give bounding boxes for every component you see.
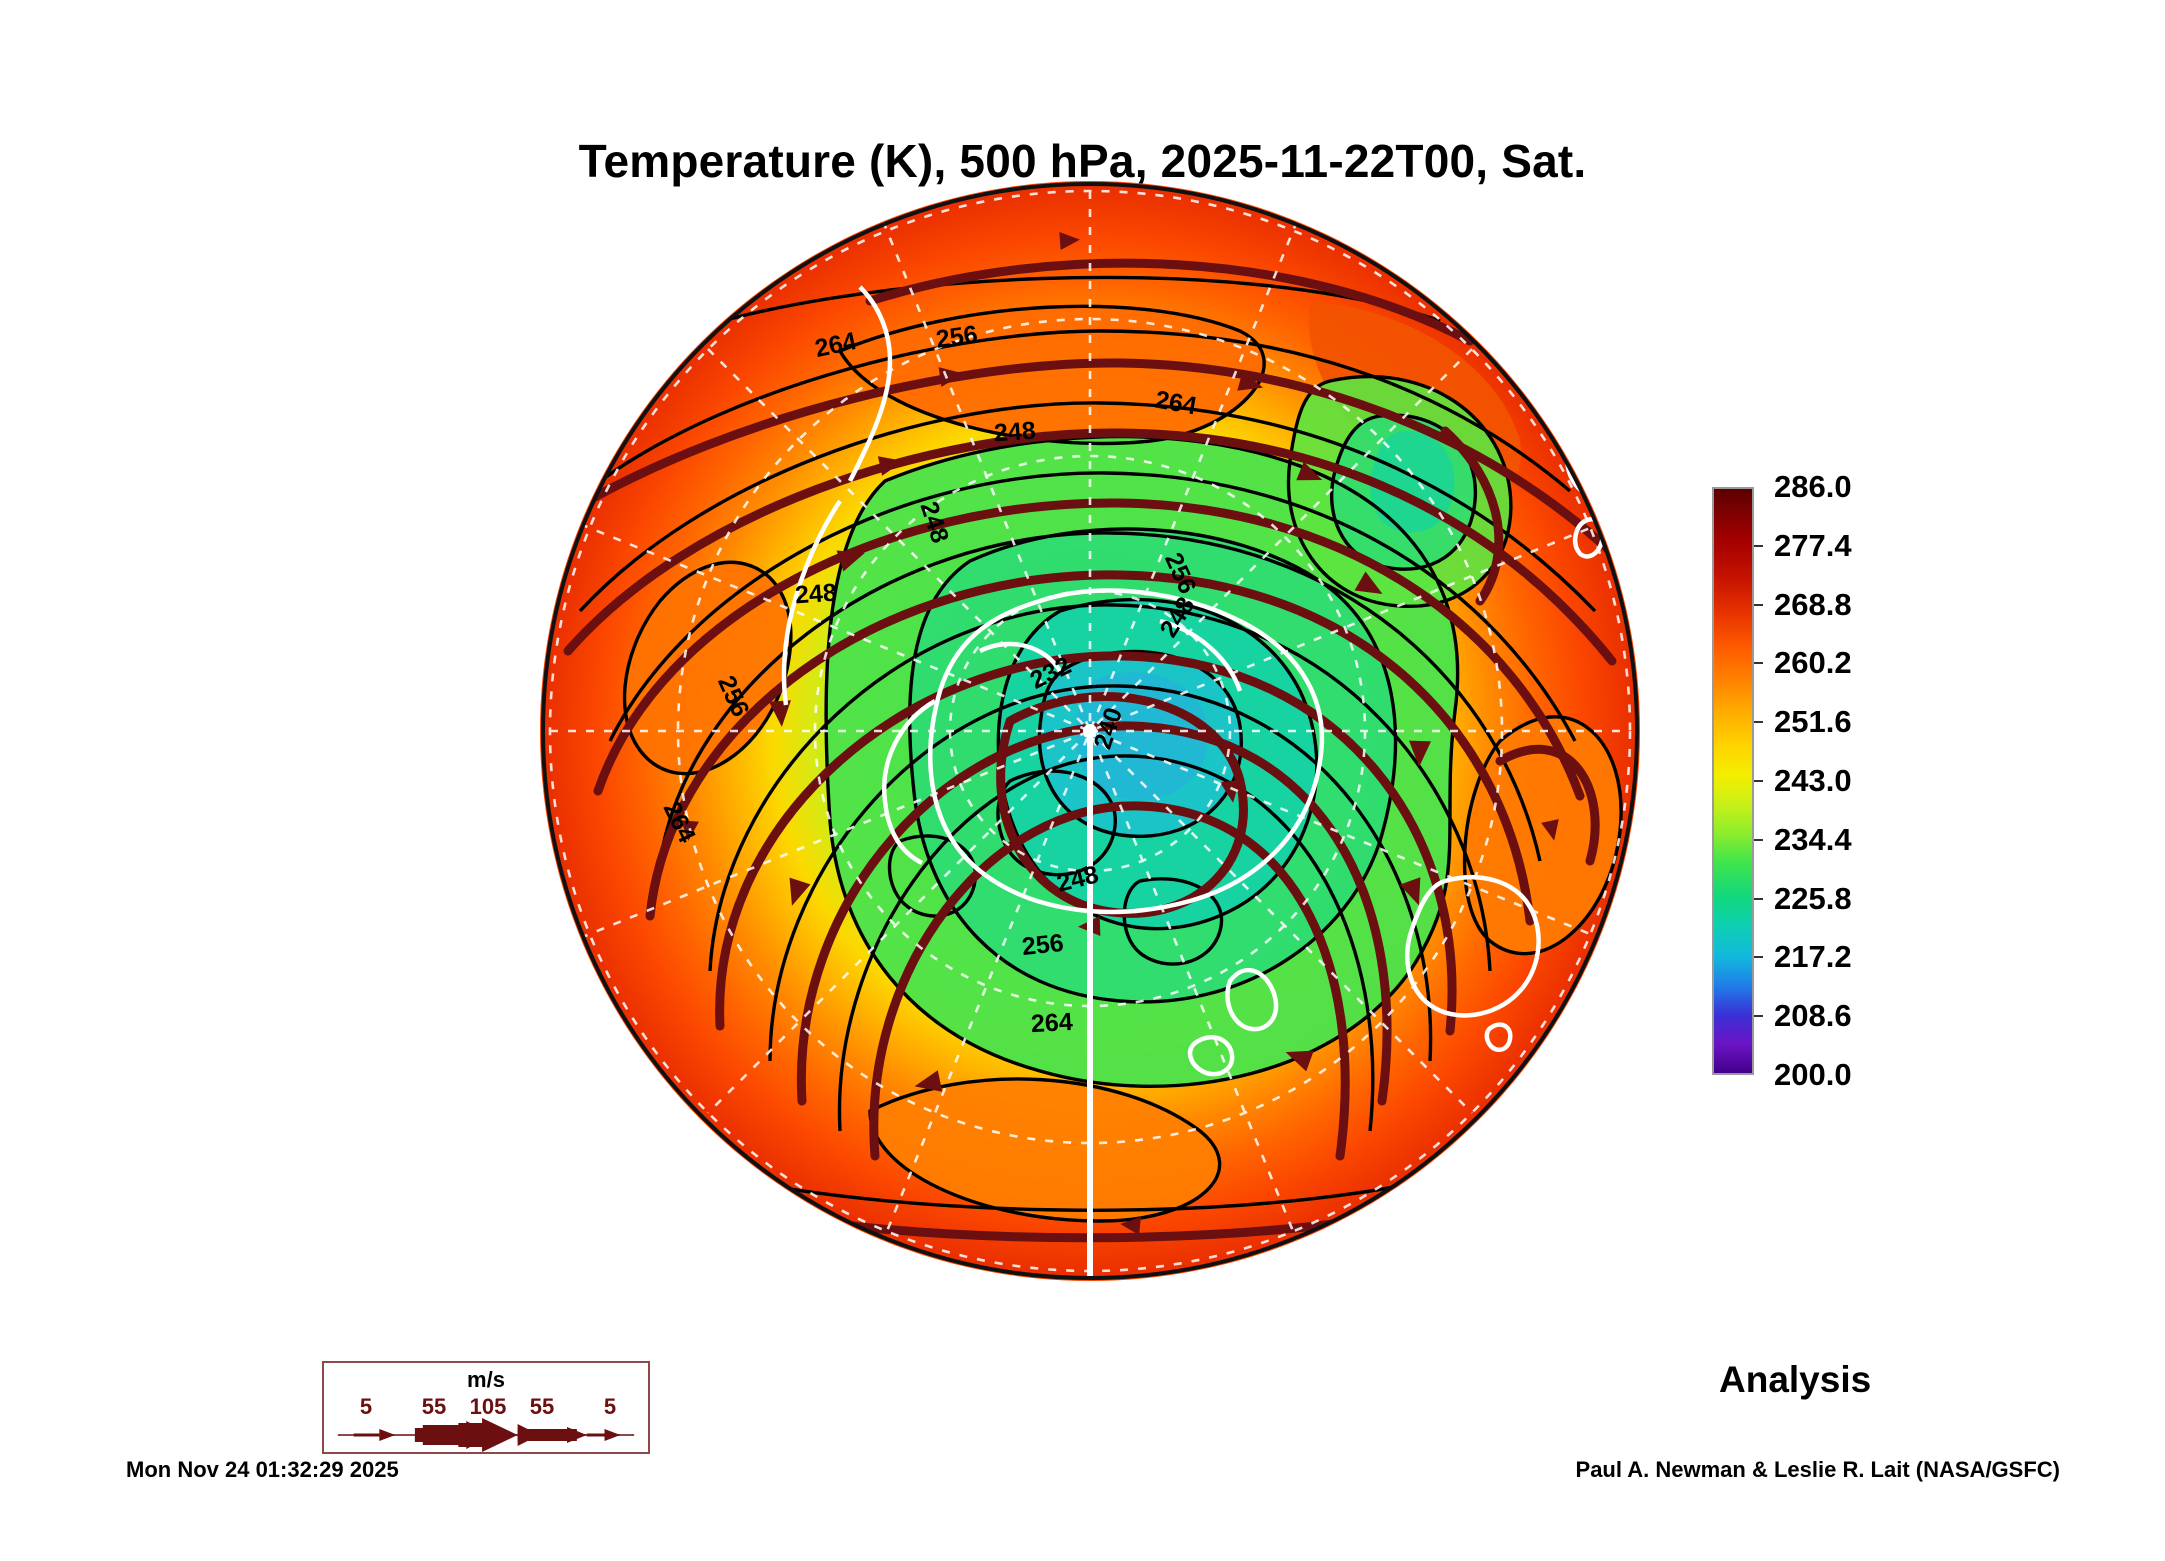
analysis-label: Analysis	[1719, 1359, 1871, 1401]
colorbar-tick-label: 200.0	[1774, 1057, 1852, 1093]
colorbar-tick-label: 268.8	[1774, 587, 1852, 623]
colorbar-tick	[1754, 839, 1763, 841]
wind-legend-value: 55	[422, 1394, 446, 1420]
map-panel[interactable]: 2642562642482482482562482322562402642482…	[540, 181, 1640, 1281]
wind-legend-arrows	[324, 1418, 648, 1452]
wind-legend-value: 5	[604, 1394, 616, 1420]
colorbar-tick	[1754, 1015, 1763, 1017]
colorbar-tick-label: 208.6	[1774, 998, 1852, 1034]
colorbar-tick-label: 225.8	[1774, 881, 1852, 917]
wind-legend-value: 105	[470, 1394, 507, 1420]
colorbar-tick-label: 260.2	[1774, 645, 1852, 681]
author-credit: Paul A. Newman & Leslie R. Lait (NASA/GS…	[1576, 1457, 2060, 1483]
colorbar-tick	[1754, 956, 1763, 958]
colorbar-tick-label: 234.4	[1774, 822, 1852, 858]
colorbar-tick	[1754, 721, 1763, 723]
wind-legend-value: 5	[360, 1394, 372, 1420]
generation-timestamp: Mon Nov 24 01:32:29 2025	[126, 1457, 399, 1483]
pole-marker	[1083, 724, 1097, 738]
wind-speed-legend[interactable]: m/s 555105555	[322, 1361, 650, 1454]
colorbar-gradient[interactable]	[1712, 487, 1754, 1075]
polar-stereographic-map[interactable]: 2642562642482482482562482322562402642482…	[540, 181, 1640, 1281]
colorbar-tick-label: 251.6	[1774, 704, 1852, 740]
colorbar-tick-label: 286.0	[1774, 469, 1852, 505]
map-svg	[540, 181, 1640, 1281]
wind-legend-unit-label: m/s	[324, 1367, 648, 1393]
page-title: Temperature (K), 500 hPa, 2025-11-22T00,…	[0, 134, 2165, 188]
colorbar-tick	[1754, 545, 1763, 547]
colorbar[interactable]: 286.0277.4268.8260.2251.6243.0234.4225.8…	[1712, 487, 2132, 1087]
wind-legend-value: 55	[530, 1394, 554, 1420]
colorbar-tick-label: 277.4	[1774, 528, 1852, 564]
colorbar-tick	[1754, 604, 1763, 606]
colorbar-tick	[1754, 898, 1763, 900]
map-fill-layer	[541, 182, 1639, 1280]
colorbar-tick-label: 243.0	[1774, 763, 1852, 799]
colorbar-tick	[1754, 662, 1763, 664]
colorbar-tick-label: 217.2	[1774, 939, 1852, 975]
colorbar-tick	[1754, 780, 1763, 782]
